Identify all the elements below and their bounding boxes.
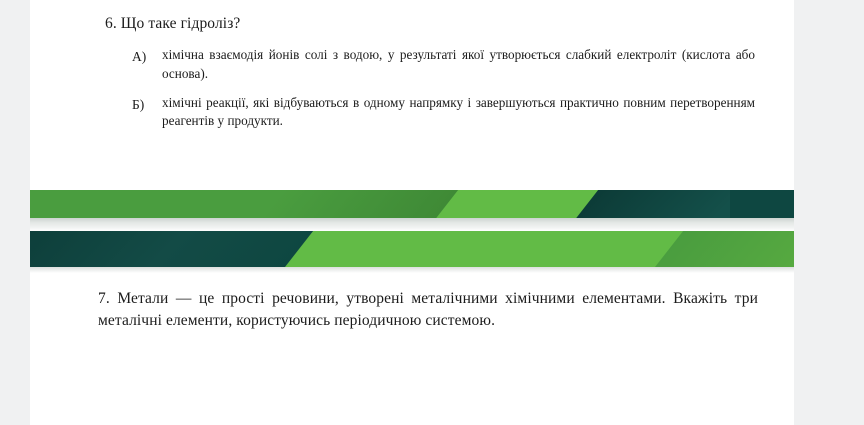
paragraph-7-block: 7. Метали — це прості речовини, утворені… bbox=[98, 288, 758, 333]
document-page: 6. Що таке гідроліз? А) хімічна взаємоді… bbox=[30, 0, 794, 425]
answer-option-b[interactable]: Б) хімічні реакції, які відбуваються в о… bbox=[132, 94, 755, 131]
banner-stripe-top-green-wedge bbox=[30, 190, 467, 218]
answer-options-list: А) хімічна взаємодія йонів солі з водою,… bbox=[105, 46, 755, 131]
decorative-banner bbox=[30, 190, 794, 270]
banner-stripe-divider-shadow bbox=[30, 218, 794, 231]
banner-stripe-top bbox=[30, 190, 794, 218]
banner-stripe-top-dark-block bbox=[730, 190, 794, 218]
answer-option-a-text: хімічна взаємодія йонів солі з водою, у … bbox=[162, 46, 755, 83]
question-6-block: 6. Що таке гідроліз? А) хімічна взаємоді… bbox=[105, 14, 755, 141]
answer-option-b-text: хімічні реакції, які відбуваються в одно… bbox=[162, 94, 755, 131]
document-viewer: 6. Що таке гідроліз? А) хімічна взаємоді… bbox=[0, 0, 864, 425]
paragraph-7-text: 7. Метали — це прості речовини, утворені… bbox=[98, 288, 758, 333]
banner-stripe-bottom-dark-wedge bbox=[30, 231, 322, 267]
answer-option-b-letter: Б) bbox=[132, 94, 162, 114]
banner-stripe-bottom bbox=[30, 231, 794, 267]
banner-bottom-shadow bbox=[30, 267, 794, 273]
question-title: 6. Що таке гідроліз? bbox=[105, 14, 755, 34]
answer-option-a[interactable]: А) хімічна взаємодія йонів солі з водою,… bbox=[132, 46, 755, 83]
answer-option-a-letter: А) bbox=[132, 46, 162, 66]
